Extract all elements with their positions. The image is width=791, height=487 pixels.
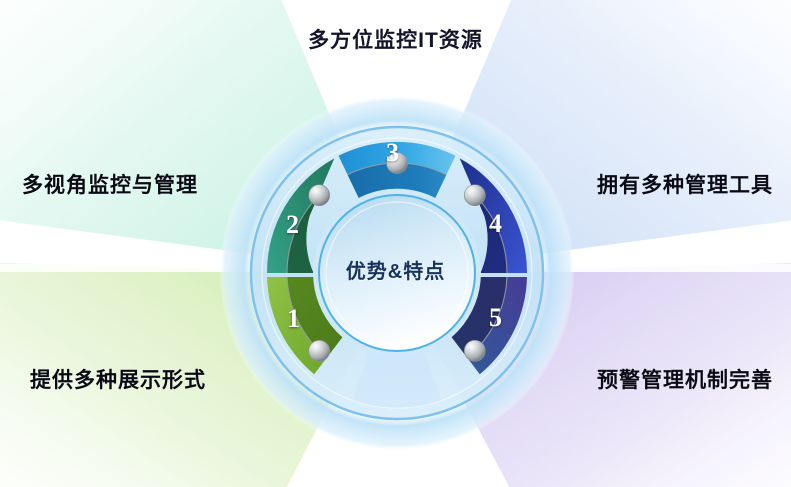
label-left-bottom: 提供多种展示形式: [30, 364, 206, 394]
marker-3[interactable]: [387, 153, 408, 174]
label-right-bottom: 预警管理机制完善: [597, 364, 773, 394]
infographic-canvas: 2 1 3 4 5 优势&特点 多方位监控IT资源 多视角监控与管理 提供多种展…: [0, 0, 791, 487]
label-left-top: 多视角监控与管理: [22, 169, 198, 199]
marker-2[interactable]: [309, 185, 330, 206]
label-right-top: 拥有多种管理工具: [597, 169, 773, 199]
segmented-donut-chart: [0, 0, 791, 487]
marker-5[interactable]: [464, 340, 485, 361]
marker-4[interactable]: [464, 185, 485, 206]
label-top: 多方位监控IT资源: [0, 24, 791, 54]
center-disc: [319, 195, 475, 351]
marker-1[interactable]: [309, 340, 330, 361]
